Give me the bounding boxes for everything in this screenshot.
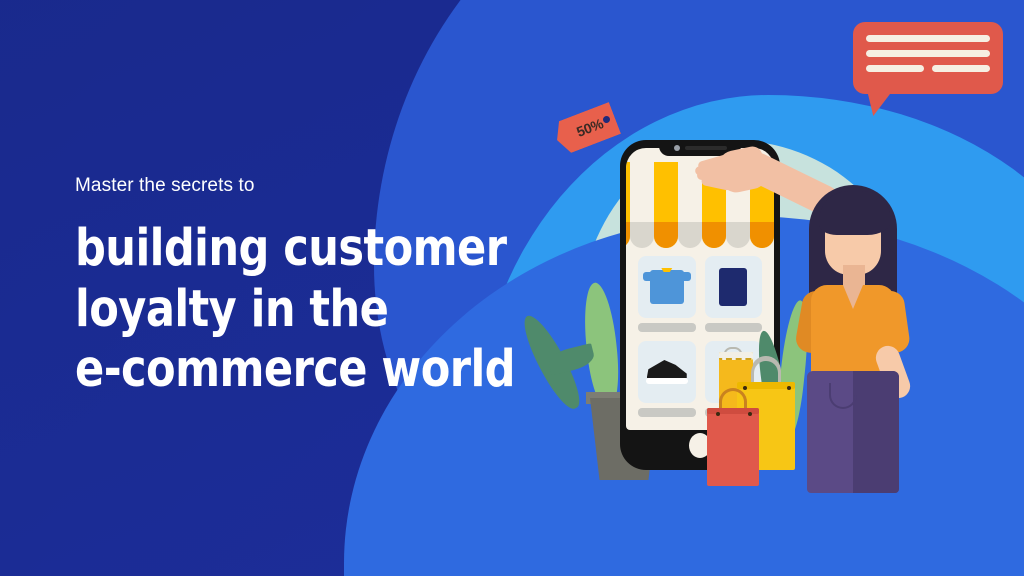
awning-stripe xyxy=(654,162,678,248)
product-label-bar xyxy=(705,323,763,332)
trousers-shade xyxy=(853,371,899,493)
bubble-text-line xyxy=(866,35,990,42)
page-title: building customer loyalty in the e-comme… xyxy=(75,219,536,401)
discount-tag: 50% xyxy=(551,102,621,156)
discount-tag-label: 50% xyxy=(574,115,605,140)
product-image xyxy=(638,256,696,318)
banner-stage: Master the secrets to building customer … xyxy=(0,0,1024,576)
headline-line-3: e-commerce world xyxy=(75,340,536,401)
sneaker-sole xyxy=(646,378,688,384)
bubble-text-line xyxy=(932,65,990,72)
product-label-bar xyxy=(638,408,696,417)
headline-line-1: building customer xyxy=(75,219,536,280)
hair-fringe xyxy=(819,191,891,235)
copy-block: Master the secrets to building customer … xyxy=(75,175,565,401)
speech-bubble xyxy=(853,22,1003,94)
shopping-bag-tall-top xyxy=(719,352,753,360)
sneaker-icon xyxy=(646,360,688,384)
shopping-bags xyxy=(707,360,827,480)
awning-stripe xyxy=(630,162,654,248)
product-image xyxy=(638,341,696,403)
product-card-shirt[interactable] xyxy=(638,256,696,332)
bag-eyelet xyxy=(787,386,791,390)
bag-eyelet xyxy=(743,386,747,390)
bubble-text-row xyxy=(866,65,990,72)
bag-eyelet xyxy=(748,412,752,416)
illustration: 50% xyxy=(535,0,1024,576)
shirt-icon xyxy=(650,270,684,304)
bubble-text-line xyxy=(866,50,990,57)
product-card-tablet[interactable] xyxy=(705,256,763,332)
headline-line-2: loyalty in the xyxy=(75,280,536,341)
product-label-bar xyxy=(638,323,696,332)
bag-eyelet xyxy=(716,412,720,416)
eyebrow-text: Master the secrets to xyxy=(75,175,565,197)
front-camera-icon xyxy=(674,145,680,151)
product-image xyxy=(705,256,763,318)
product-card-sneaker[interactable] xyxy=(638,341,696,417)
shopping-bag-red xyxy=(707,408,759,486)
tablet-icon xyxy=(719,268,747,306)
bubble-text-line xyxy=(866,65,924,72)
